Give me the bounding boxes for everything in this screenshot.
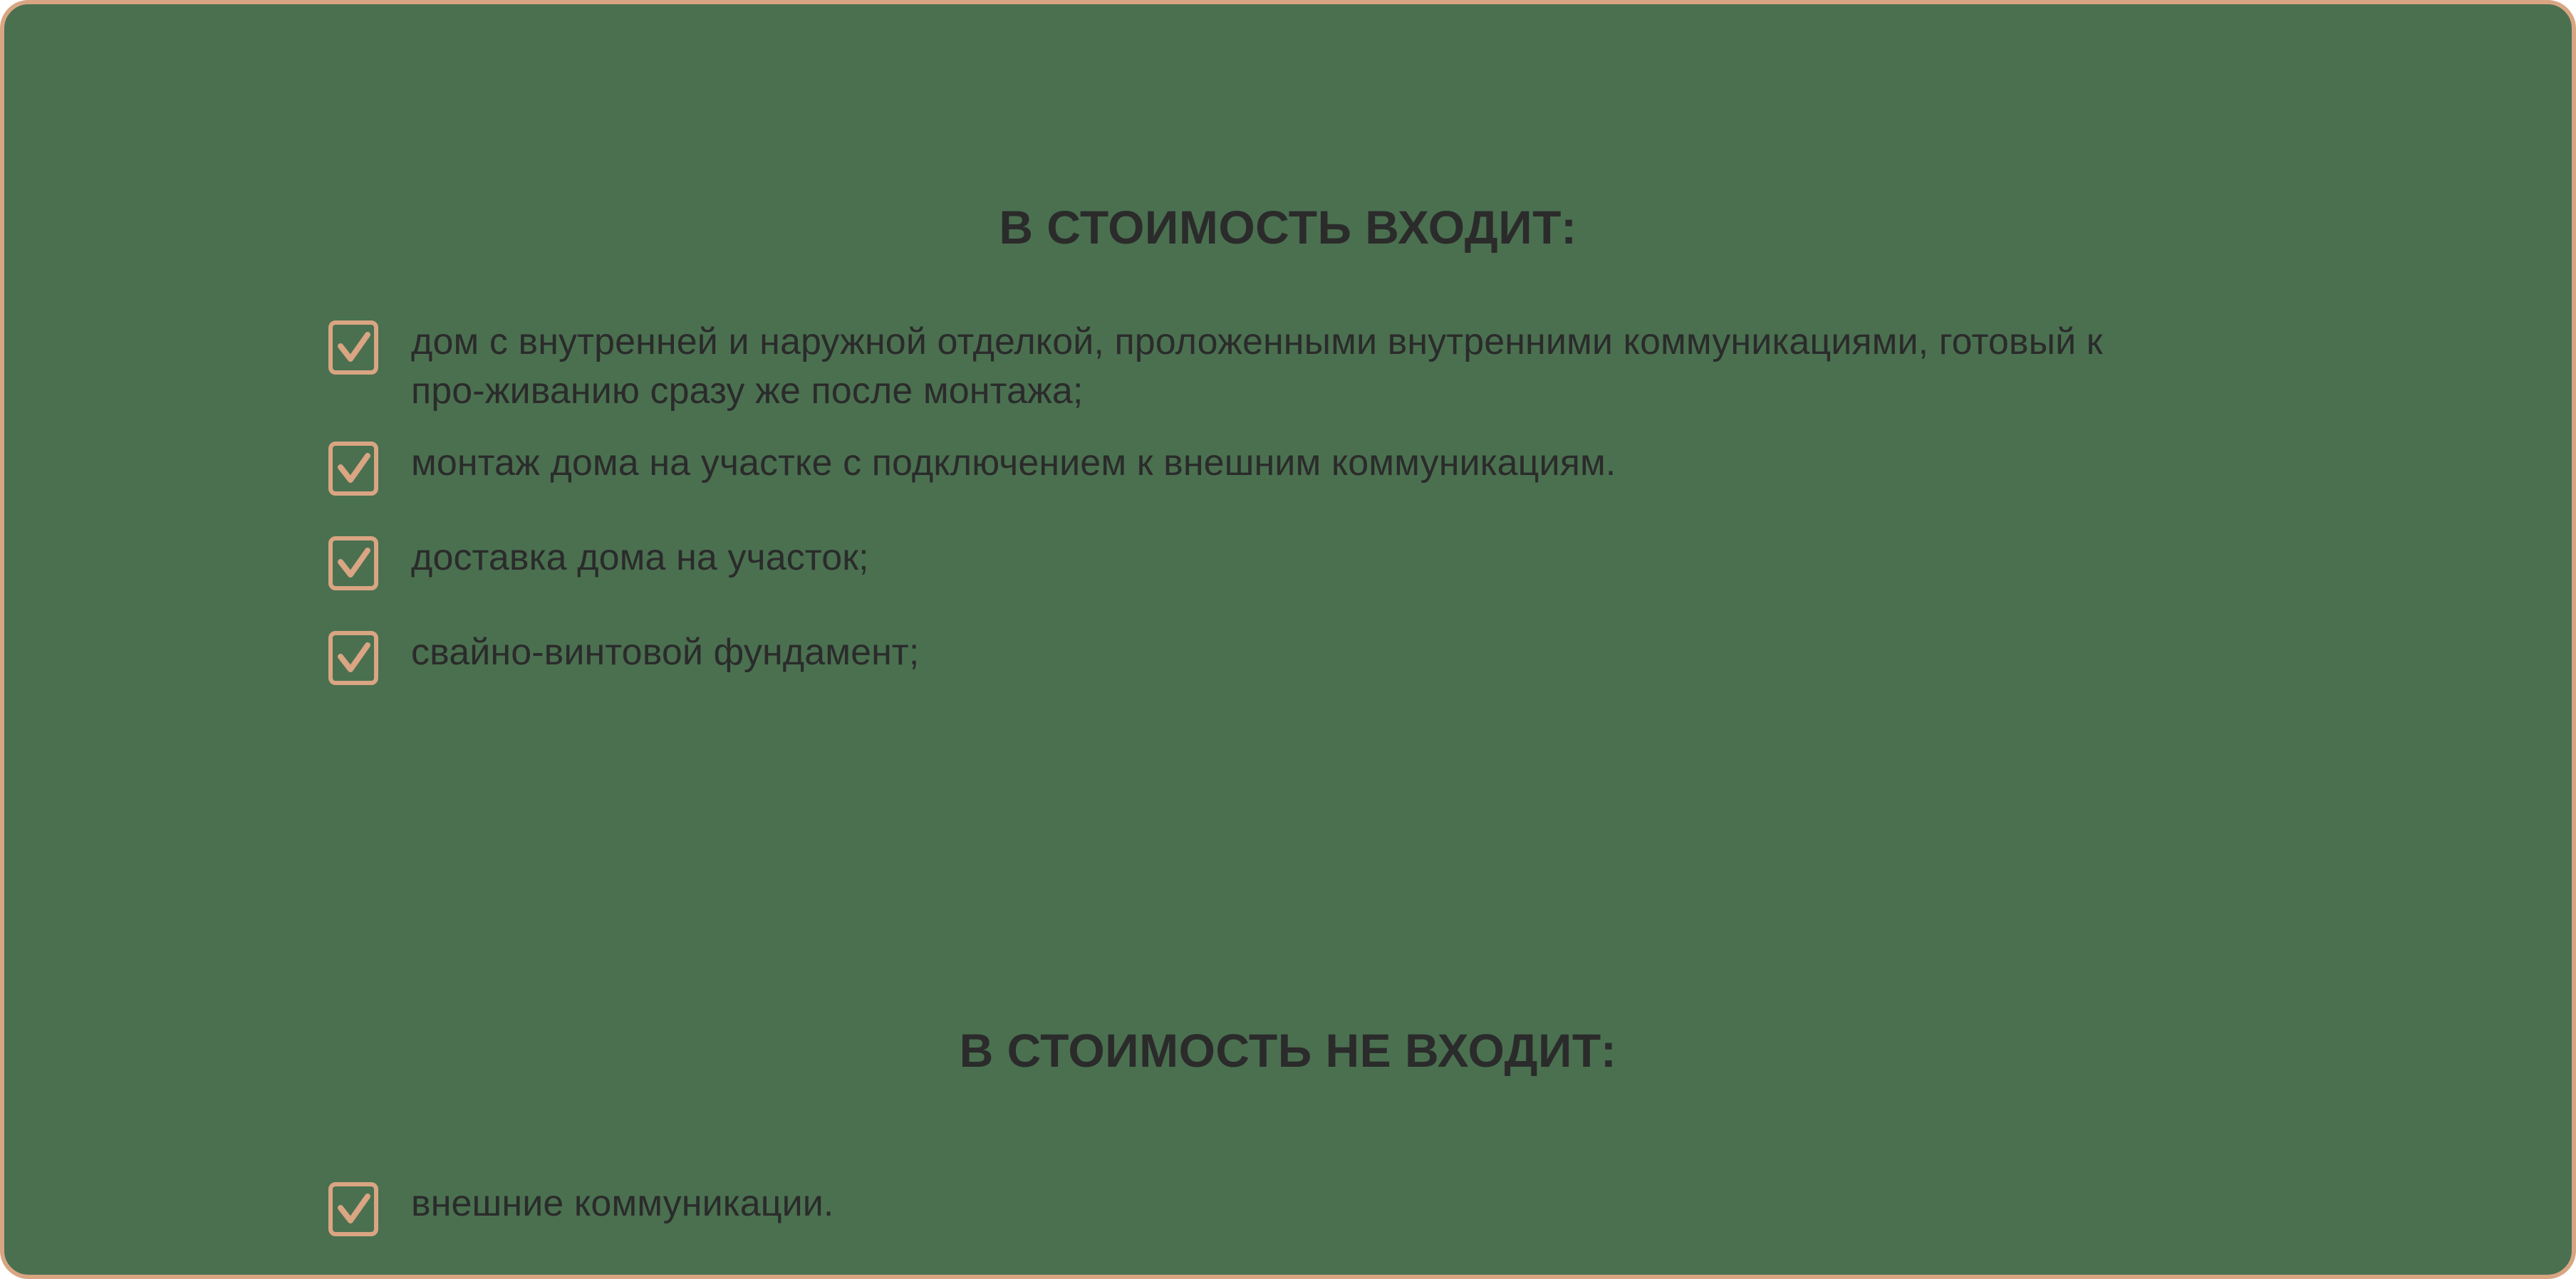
- list-item: внешние коммуникации.: [328, 1179, 2429, 1236]
- list-item: доставка дома на участок;: [328, 533, 2429, 590]
- list-item-label: доставка дома на участок;: [411, 533, 869, 583]
- included-heading: В СТОИМОСТЬ ВХОДИТ:: [4, 202, 2572, 254]
- list-item-label: монтаж дома на участке с подключением к …: [411, 439, 1616, 488]
- card-content: В СТОИМОСТЬ ВХОДИТ: дом с внутренней и н…: [4, 4, 2572, 1275]
- checkbox-checked-icon: [328, 442, 378, 496]
- price-inclusions-card: В СТОИМОСТЬ ВХОДИТ: дом с внутренней и н…: [0, 0, 2576, 1279]
- checkbox-checked-icon: [328, 536, 378, 590]
- checkbox-checked-icon: [328, 1182, 378, 1236]
- list-item-label: внешние коммуникации.: [411, 1179, 833, 1228]
- list-item: дом с внутренней и наружной отделкой, пр…: [328, 318, 2429, 416]
- list-item-label: дом с внутренней и наружной отделкой, пр…: [411, 318, 2121, 416]
- list-item-label: свайно-винтовой фундамент;: [411, 628, 919, 677]
- list-item: свайно-винтовой фундамент;: [328, 628, 2429, 685]
- included-list: дом с внутренней и наружной отделкой, пр…: [328, 318, 2429, 685]
- excluded-list: внешние коммуникации.: [328, 1179, 2429, 1236]
- list-item: монтаж дома на участке с подключением к …: [328, 439, 2429, 496]
- checkbox-checked-icon: [328, 320, 378, 375]
- checkbox-checked-icon: [328, 631, 378, 685]
- excluded-heading: В СТОИМОСТЬ НЕ ВХОДИТ:: [4, 1025, 2572, 1077]
